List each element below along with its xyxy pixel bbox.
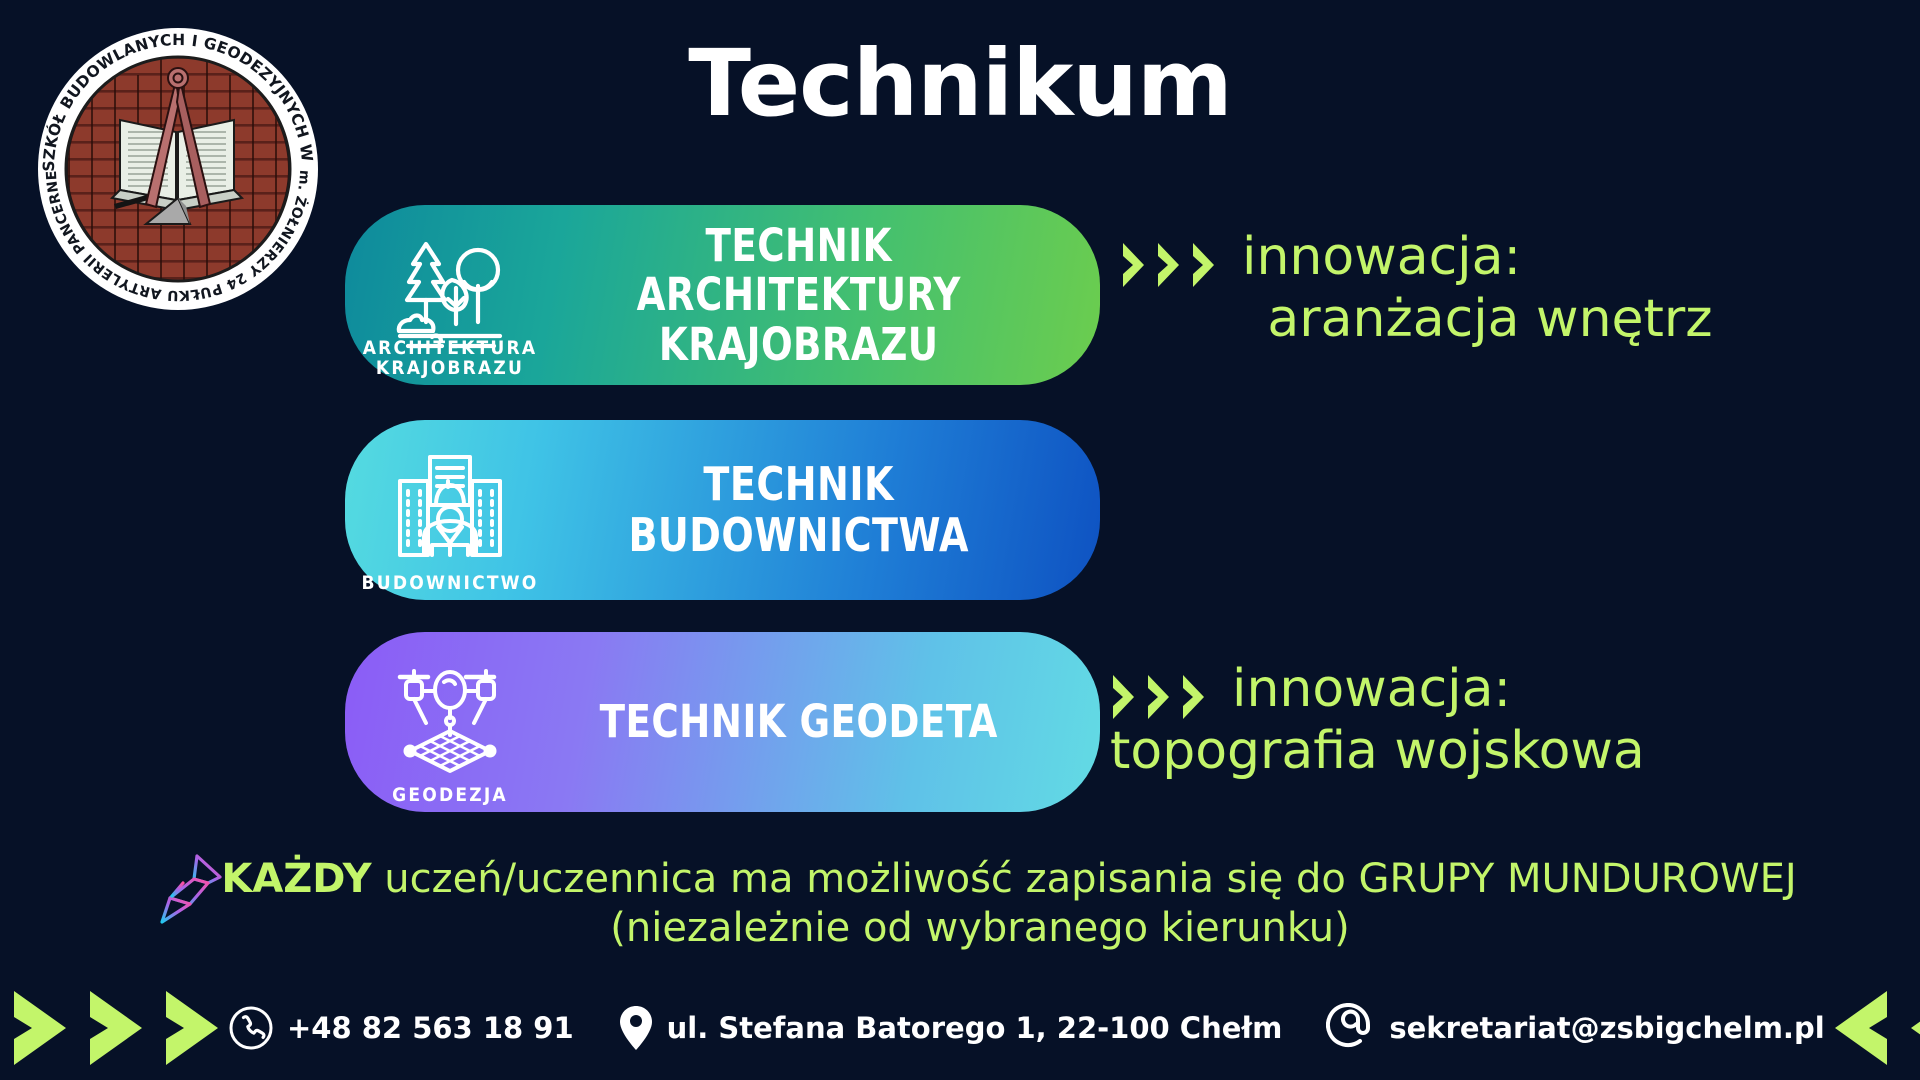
card-sublabel: ARCHITEKTURA KRAJOBRAZU bbox=[363, 338, 538, 379]
contact-phone[interactable]: +48 82 563 18 91 bbox=[228, 1005, 574, 1051]
card-title: TECHNIK ARCHITEKTURY KRAJOBRAZU bbox=[548, 221, 1077, 370]
card-sublabel: GEODEZJA bbox=[392, 785, 508, 806]
email-text: sekretariat@zsbigchelm.pl bbox=[1389, 1011, 1824, 1045]
uniform-group-note: KAŻDY uczeń/uczennica ma możliwość zapis… bbox=[150, 855, 1810, 953]
footer-contact-bar: +48 82 563 18 91 ul. Stefana Batorego 1,… bbox=[0, 975, 1920, 1080]
address-text: ul. Stefana Batorego 1, 22-100 Chełm bbox=[667, 1011, 1283, 1045]
logo-text-top: ZESPÓŁ SZKÓŁ BUDOWLANYCH I GEODEZYJNYCH … bbox=[38, 28, 316, 172]
drone-survey-grid-icon: GEODEZJA bbox=[375, 642, 525, 802]
note-strong: KAŻDY bbox=[221, 856, 371, 902]
phone-number: +48 82 563 18 91 bbox=[287, 1011, 574, 1045]
chevrons-right-icon bbox=[1110, 672, 1210, 722]
card-title-line1: TECHNIK ARCHITEKTURY bbox=[637, 219, 961, 322]
logo-circular-text: ZESPÓŁ SZKÓŁ BUDOWLANYCH I GEODEZYJNYCH … bbox=[38, 28, 318, 310]
chevrons-right-icon bbox=[1120, 240, 1220, 290]
map-pin-icon bbox=[618, 1004, 654, 1052]
innovation-label: innowacja: bbox=[1242, 228, 1521, 286]
page-title: Technikum bbox=[640, 30, 1280, 137]
card-sublabel-line1: ARCHITEKTURA bbox=[363, 337, 538, 359]
chevrons-right-icon bbox=[8, 987, 228, 1069]
at-sign-icon bbox=[1326, 1003, 1376, 1053]
card-sublabel-line1: GEODEZJA bbox=[392, 784, 508, 806]
card-sublabel-line2: KRAJOBRAZU bbox=[376, 357, 524, 379]
card-title: TECHNIK GEODETA bbox=[548, 697, 1077, 747]
note-line-1: KAŻDY uczeń/uczennica ma możliwość zapis… bbox=[150, 855, 1810, 904]
note-line-2: (niezależnie od wybranego kierunku) bbox=[150, 904, 1810, 953]
chevrons-left-icon bbox=[1825, 987, 1920, 1069]
note-rest: uczeń/uczennica ma możliwość zapisania s… bbox=[372, 856, 1797, 902]
innovation-value: aranżacja wnętrz bbox=[1120, 290, 1840, 348]
push-pin-icon bbox=[150, 850, 232, 928]
school-logo: ZESPÓŁ SZKÓŁ BUDOWLANYCH I GEODEZYJNYCH … bbox=[38, 28, 318, 310]
card-title: TECHNIK BUDOWNICTWA bbox=[548, 459, 1077, 560]
program-card-budownictwo[interactable]: BUDOWNICTWO TECHNIK BUDOWNICTWA bbox=[345, 420, 1100, 600]
innovation-value: topografia wojskowa bbox=[1110, 722, 1870, 780]
innovation-architektura: innowacja: aranżacja wnętrz bbox=[1120, 228, 1840, 348]
innovation-geodezja: innowacja: topografia wojskowa bbox=[1110, 660, 1870, 780]
construction-worker-buildings-icon: BUDOWNICTWO bbox=[375, 430, 525, 590]
card-title-line1: TECHNIK GEODETA bbox=[600, 695, 998, 748]
trees-landscape-icon: ARCHITEKTURA KRAJOBRAZU bbox=[375, 215, 525, 375]
card-title-line2: KRAJOBRAZU bbox=[659, 318, 939, 371]
innovation-label: innowacja: bbox=[1232, 660, 1511, 718]
contact-address[interactable]: ul. Stefana Batorego 1, 22-100 Chełm bbox=[618, 1004, 1283, 1052]
svg-text:ZESPÓŁ SZKÓŁ BUDOWLANYCH I GEO: ZESPÓŁ SZKÓŁ BUDOWLANYCH I GEODEZYJNYCH … bbox=[38, 28, 316, 172]
card-title-line1: TECHNIK BUDOWNICTWA bbox=[628, 457, 968, 562]
phone-circle-icon bbox=[228, 1005, 274, 1051]
card-sublabel-line1: BUDOWNICTWO bbox=[362, 572, 539, 594]
contacts-group: +48 82 563 18 91 ul. Stefana Batorego 1,… bbox=[228, 1003, 1825, 1053]
contact-email[interactable]: sekretariat@zsbigchelm.pl bbox=[1326, 1003, 1824, 1053]
card-sublabel: BUDOWNICTWO bbox=[362, 573, 539, 594]
program-card-architektura-krajobrazu[interactable]: ARCHITEKTURA KRAJOBRAZU TECHNIK ARCHITEK… bbox=[345, 205, 1100, 385]
program-card-geodezja[interactable]: GEODEZJA TECHNIK GEODETA bbox=[345, 632, 1100, 812]
